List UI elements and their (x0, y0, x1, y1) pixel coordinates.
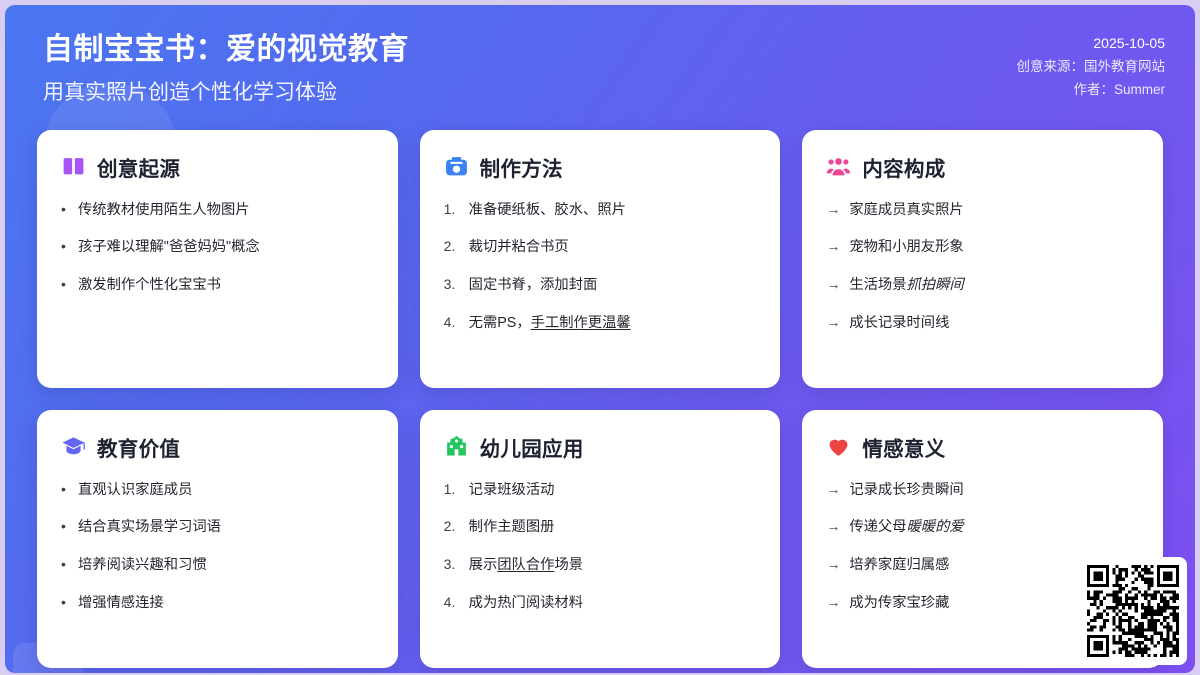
list-item: 2.制作主题图册 (444, 516, 757, 538)
list-marker-number: 2. (444, 236, 460, 256)
camera-icon (444, 154, 469, 179)
list-item: •激发制作个性化宝宝书 (61, 274, 374, 296)
list-marker-number: 1. (444, 479, 460, 499)
card: 内容构成→家庭成员真实照片→宠物和小朋友形象→生活场景抓拍瞬间→成长记录时间线 (802, 130, 1163, 388)
meta-author: 作者：Summer (1017, 78, 1166, 101)
list-item-text: 展示团队合作场景 (469, 555, 583, 576)
list-marker-bullet: • (61, 516, 69, 536)
meta-date: 2025-10-05 (1017, 31, 1166, 55)
list-marker-number: 4. (444, 592, 460, 612)
list-item-text: 传统教材使用陌生人物图片 (78, 200, 250, 221)
list-marker-bullet: • (61, 479, 69, 499)
qr-code-panel[interactable] (1079, 557, 1187, 665)
list-item: •孩子难以理解"爸爸妈妈"概念 (61, 236, 374, 258)
card-header: 幼儿园应用 (444, 432, 757, 462)
list-marker-bullet: • (61, 592, 69, 612)
list-marker-arrow: → (826, 516, 840, 536)
header-meta: 2025-10-05 创意来源：国外教育网站 作者：Summer (1017, 31, 1166, 102)
list-item-text: 培养阅读兴趣和习惯 (78, 555, 207, 576)
page-title: 自制宝宝书：爱的视觉教育 (43, 31, 409, 69)
card: 幼儿园应用1.记录班级活动2.制作主题图册3.展示团队合作场景4.成为热门阅读材… (420, 410, 781, 668)
list-marker-number: 3. (444, 554, 460, 574)
list-item-text: 生活场景抓拍瞬间 (849, 275, 963, 296)
list-item: 4.成为热门阅读材料 (444, 592, 757, 614)
heart-icon (826, 434, 851, 459)
list-item-text: 成为热门阅读材料 (469, 593, 583, 614)
list-item-text: 记录班级活动 (469, 480, 555, 501)
card-grid: 创意起源•传统教材使用陌生人物图片•孩子难以理解"爸爸妈妈"概念•激发制作个性化… (5, 130, 1195, 668)
list-marker-arrow: → (826, 274, 840, 294)
card-list: •传统教材使用陌生人物图片•孩子难以理解"爸爸妈妈"概念•激发制作个性化宝宝书 (61, 199, 374, 296)
list-marker-bullet: • (61, 199, 69, 219)
list-item-text: 制作主题图册 (469, 517, 555, 538)
list-marker-number: 2. (444, 516, 460, 536)
list-marker-arrow: → (826, 236, 840, 256)
list-marker-number: 1. (444, 199, 460, 219)
list-marker-number: 3. (444, 274, 460, 294)
card-title: 内容构成 (862, 152, 945, 182)
list-marker-arrow: → (826, 479, 840, 499)
poster-header: 自制宝宝书：爱的视觉教育 用真实照片创造个性化学习体验 2025-10-05 创… (5, 5, 1195, 124)
list-item-text: 家庭成员真实照片 (849, 200, 963, 221)
qr-code (1087, 565, 1179, 657)
list-item-text: 增强情感连接 (78, 593, 164, 614)
list-item-text: 成长记录时间线 (849, 313, 949, 334)
list-marker-bullet: • (61, 554, 69, 574)
list-item: →成长记录时间线 (826, 312, 1139, 334)
card-header: 创意起源 (61, 152, 374, 182)
graduation-cap-icon (61, 434, 86, 459)
list-item-text: 激发制作个性化宝宝书 (78, 275, 221, 296)
list-item-text: 裁切并粘合书页 (469, 237, 569, 258)
list-item: 3.固定书脊，添加封面 (444, 274, 757, 296)
list-item: →生活场景抓拍瞬间 (826, 274, 1139, 296)
card-header: 教育价值 (61, 432, 374, 462)
card-title: 创意起源 (97, 152, 180, 182)
card-list: •直观认识家庭成员•结合真实场景学习词语•培养阅读兴趣和习惯•增强情感连接 (61, 479, 374, 614)
list-marker-arrow: → (826, 312, 840, 332)
school-building-icon (444, 434, 469, 459)
card: 创意起源•传统教材使用陌生人物图片•孩子难以理解"爸爸妈妈"概念•激发制作个性化… (37, 130, 398, 388)
card-header: 情感意义 (826, 432, 1139, 462)
list-marker-number: 4. (444, 312, 460, 332)
open-book-icon (61, 154, 86, 179)
list-item: →传递父母暖暖的爱 (826, 516, 1139, 538)
card-list: →家庭成员真实照片→宠物和小朋友形象→生活场景抓拍瞬间→成长记录时间线 (826, 199, 1139, 334)
list-item-text: 结合真实场景学习词语 (78, 517, 221, 538)
list-item: →宠物和小朋友形象 (826, 236, 1139, 258)
card-title: 幼儿园应用 (480, 432, 584, 462)
people-group-icon (826, 154, 851, 179)
list-item: •结合真实场景学习词语 (61, 516, 374, 538)
list-item: 1.记录班级活动 (444, 479, 757, 501)
list-marker-arrow: → (826, 199, 840, 219)
list-item: •传统教材使用陌生人物图片 (61, 199, 374, 221)
list-item: •培养阅读兴趣和习惯 (61, 554, 374, 576)
list-item-text: 宠物和小朋友形象 (849, 237, 963, 258)
list-item-text: 直观认识家庭成员 (78, 480, 192, 501)
list-item: 4.无需PS，手工制作更温馨 (444, 312, 757, 334)
list-item: →记录成长珍贵瞬间 (826, 479, 1139, 501)
list-item-text: 记录成长珍贵瞬间 (849, 480, 963, 501)
title-block: 自制宝宝书：爱的视觉教育 用真实照片创造个性化学习体验 (43, 31, 409, 106)
card: 教育价值•直观认识家庭成员•结合真实场景学习词语•培养阅读兴趣和习惯•增强情感连… (37, 410, 398, 668)
list-item: 3.展示团队合作场景 (444, 554, 757, 576)
card-title: 制作方法 (480, 152, 563, 182)
list-marker-arrow: → (826, 592, 840, 612)
card-header: 制作方法 (444, 152, 757, 182)
poster-page: 自制宝宝书：爱的视觉教育 用真实照片创造个性化学习体验 2025-10-05 创… (5, 5, 1195, 673)
meta-source: 创意来源：国外教育网站 (1017, 55, 1166, 78)
list-item-text: 成为传家宝珍藏 (849, 593, 949, 614)
page-subtitle: 用真实照片创造个性化学习体验 (43, 76, 409, 106)
card: 制作方法1.准备硬纸板、胶水、照片2.裁切并粘合书页3.固定书脊，添加封面4.无… (420, 130, 781, 388)
list-item: •增强情感连接 (61, 592, 374, 614)
list-item: →家庭成员真实照片 (826, 199, 1139, 221)
list-item-text: 无需PS，手工制作更温馨 (469, 313, 631, 334)
list-item-text: 培养家庭归属感 (849, 555, 949, 576)
card-list: 1.记录班级活动2.制作主题图册3.展示团队合作场景4.成为热门阅读材料 (444, 479, 757, 614)
list-marker-arrow: → (826, 554, 840, 574)
list-item-text: 固定书脊，添加封面 (469, 275, 598, 296)
list-item: •直观认识家庭成员 (61, 479, 374, 501)
card-header: 内容构成 (826, 152, 1139, 182)
list-item: 2.裁切并粘合书页 (444, 236, 757, 258)
card-list: 1.准备硬纸板、胶水、照片2.裁切并粘合书页3.固定书脊，添加封面4.无需PS，… (444, 199, 757, 334)
list-item: 1.准备硬纸板、胶水、照片 (444, 199, 757, 221)
list-item-text: 传递父母暖暖的爱 (849, 517, 963, 538)
list-marker-bullet: • (61, 236, 69, 256)
list-item-text: 孩子难以理解"爸爸妈妈"概念 (78, 237, 260, 258)
card-title: 教育价值 (97, 432, 180, 462)
card-title: 情感意义 (862, 432, 945, 462)
list-item-text: 准备硬纸板、胶水、照片 (469, 200, 626, 221)
list-marker-bullet: • (61, 274, 69, 294)
